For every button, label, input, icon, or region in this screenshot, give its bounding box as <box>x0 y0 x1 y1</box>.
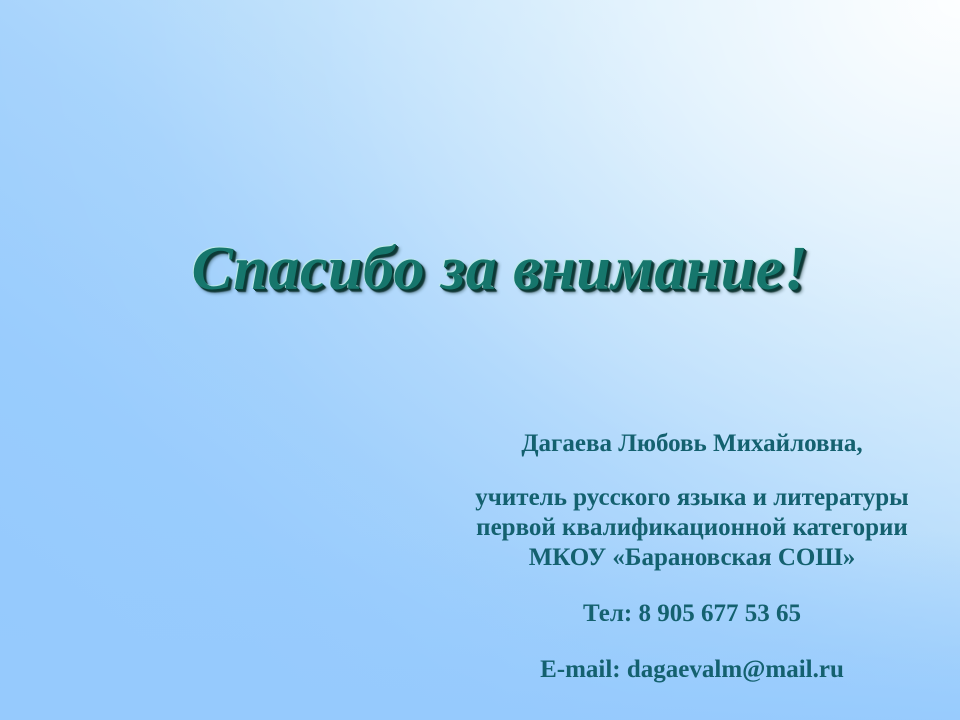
author-phone: Тел: 8 905 677 53 65 <box>432 600 952 628</box>
presentation-slide: Спасибо за внимание! Дагаева Любовь Миха… <box>0 0 960 720</box>
author-name: Дагаева Любовь Михайловна, <box>432 430 952 458</box>
slide-content: Спасибо за внимание! Дагаева Любовь Миха… <box>0 0 960 720</box>
author-role-line-2: первой квалификационной категории <box>432 514 952 542</box>
author-role-line-1: учитель русского языка и литературы <box>432 484 952 512</box>
title-block: Спасибо за внимание! <box>0 238 960 300</box>
author-email: E-mail: dagaevalm@mail.ru <box>432 656 952 684</box>
signature-block: Дагаева Любовь Михайловна, учитель русск… <box>432 430 952 684</box>
author-school: МКОУ «Барановская СОШ» <box>432 544 952 572</box>
slide-title: Спасибо за внимание! <box>192 238 809 300</box>
